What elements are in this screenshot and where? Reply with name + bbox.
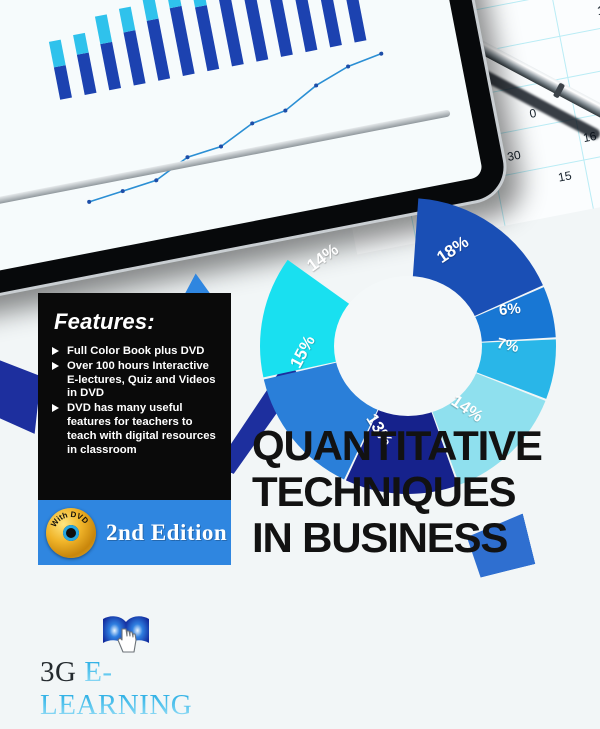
bar	[213, 0, 244, 66]
bar	[95, 15, 121, 91]
triangle-bullet-icon	[52, 347, 59, 355]
bar	[73, 33, 96, 95]
edition-label: 2nd Edition	[106, 520, 227, 546]
cell-value: 15	[557, 168, 573, 184]
dvd-disc-icon: With DVD	[46, 508, 96, 558]
book-cover: 30 329.1 998.87 0.7 63 7.65 29 12.37 301…	[0, 0, 600, 729]
bar	[166, 0, 195, 76]
dvd-disc-label: With DVD	[46, 508, 96, 558]
line-marker	[120, 189, 125, 194]
open-book-with-cursor-icon	[98, 612, 154, 656]
cell-value: 12.37	[596, 0, 600, 18]
title-line-1: QUANTITATIVE	[252, 423, 542, 469]
bar	[119, 7, 146, 86]
feature-item: DVD has many useful features for teacher…	[52, 402, 221, 457]
publisher-logo: 3G E-LEARNING	[40, 612, 250, 690]
feature-text: Over 100 hours Interactive E-lectures, Q…	[67, 360, 216, 400]
features-list: Full Color Book plus DVD Over 100 hours …	[38, 345, 231, 457]
cell-value: 30	[506, 148, 522, 164]
feature-text: Full Color Book plus DVD	[67, 345, 204, 357]
bar	[49, 40, 72, 100]
edition-banner: With DVD 2nd Edition	[38, 500, 231, 565]
title-line-2: TECHNIQUES	[252, 469, 542, 515]
svg-text:With DVD: With DVD	[49, 509, 90, 528]
bar	[141, 0, 170, 81]
title-line-3: IN BUSINESS	[252, 515, 542, 561]
line-marker	[87, 200, 92, 205]
donut-label: 6%	[498, 300, 521, 319]
feature-item: Over 100 hours Interactive E-lectures, Q…	[52, 360, 221, 401]
publisher-name: 3G E-LEARNING	[40, 656, 250, 722]
line-marker	[379, 51, 384, 56]
page-title: QUANTITATIVE TECHNIQUES IN BUSINESS	[252, 423, 542, 561]
publisher-name-primary: 3G	[40, 656, 76, 688]
triangle-bullet-icon	[52, 362, 59, 370]
feature-text: DVD has many useful features for teacher…	[67, 402, 216, 455]
triangle-bullet-icon	[52, 404, 59, 412]
bar	[189, 0, 220, 71]
feature-item: Full Color Book plus DVD	[52, 345, 221, 359]
dvd-text: With DVD	[49, 509, 90, 528]
features-heading: Features:	[54, 309, 231, 335]
features-panel: Features: Full Color Book plus DVD Over …	[38, 293, 231, 500]
bar	[337, 0, 367, 43]
